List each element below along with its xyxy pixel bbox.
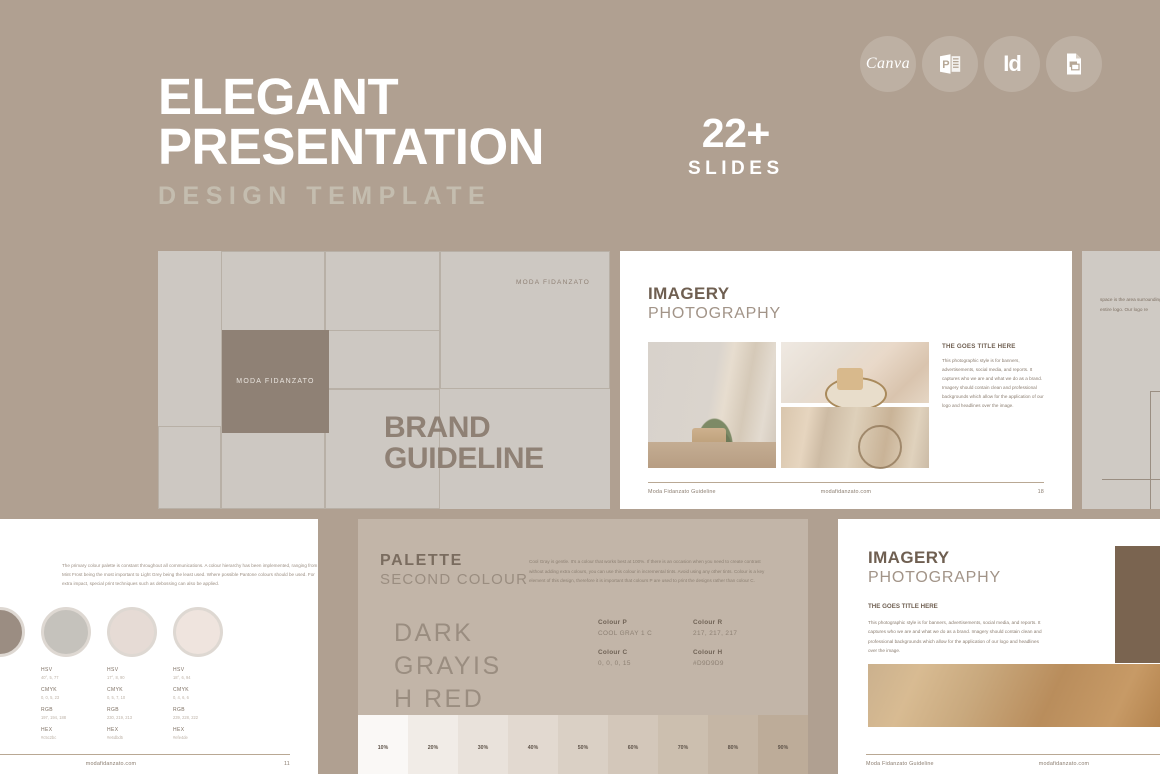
colour-spec-key: HSV [41, 667, 102, 673]
palette-spec-item: Colour C 0, 0, 0, 15 [598, 649, 693, 667]
format-badges: Canva P Id [860, 36, 1102, 92]
imagery-photo-top [781, 342, 929, 403]
colours-description: The primary colour palette is constant t… [62, 561, 318, 589]
imagery-footer-page: 18 [1038, 489, 1044, 495]
svg-text:P: P [942, 59, 949, 71]
slides-count-group: 22+ SLIDES [688, 113, 784, 180]
palette-subheading: SECOND COLOUR [380, 571, 528, 588]
cover-brand-block: MODA FIDANZATO [222, 330, 329, 433]
imagery2-text-body: This photographic style is for banners, … [868, 618, 1046, 656]
palette-heading: PALETTE [380, 552, 528, 570]
colour-spec-key: HEX [107, 727, 168, 733]
imagery-text-body: This photographic style is for banners, … [942, 357, 1046, 411]
cover-grid-box [221, 426, 325, 509]
colour-swatch-dot [173, 607, 223, 657]
hero-heading-group: ELEGANT PRESENTATION DESIGN TEMPLATE [158, 72, 718, 211]
slides-count-number: 22+ [688, 113, 784, 154]
slide-imagery-photography-2[interactable]: IMAGERY PHOTOGRAPHY THE GOES TITLE HERE … [838, 519, 1160, 774]
palette-tint-step[interactable]: 70% [658, 715, 708, 774]
imagery-footer-left: Moda Fidanzato Guideline [648, 489, 716, 495]
colour-spec-key: HSV [0, 667, 36, 673]
cover-title-line1: BRAND [384, 413, 544, 444]
imagery2-text-block: THE GOES TITLE HERE This photographic st… [868, 603, 1046, 656]
palette-spec-value: 0, 0, 0, 15 [598, 660, 693, 667]
imagery-subheading: PHOTOGRAPHY [648, 305, 781, 323]
cover-top-right-brand: MODA FIDANZATO [516, 279, 590, 286]
colours-footer-center: modafidanzato.com [86, 761, 136, 767]
imagery2-subheading: PHOTOGRAPHY [868, 569, 1001, 587]
slide-clear-space[interactable]: space is the area surrounding our l arou… [1082, 251, 1160, 509]
palette-spec-key: Colour P [598, 619, 693, 626]
colour-spec-key: RGB [173, 707, 234, 713]
slide-colours[interactable]: URS The primary colour palette is consta… [0, 519, 318, 774]
palette-spec-value: #D9D9D9 [693, 660, 788, 667]
palette-spec-item: Colour H #D9D9D9 [693, 649, 788, 667]
powerpoint-icon[interactable]: P [922, 36, 978, 92]
colour-spec-key: RGB [41, 707, 102, 713]
palette-tint-step[interactable]: 80% [708, 715, 758, 774]
clearspace-frame [1150, 391, 1160, 509]
palette-tint-step[interactable]: 30% [458, 715, 508, 774]
cover-grid-box [325, 330, 440, 389]
colour-spec-value: 0, 5, 7, 10 [107, 695, 168, 700]
palette-spec-key: Colour R [693, 619, 788, 626]
colour-swatch-dot [41, 607, 91, 657]
canva-icon-label: Canva [866, 55, 910, 73]
colour-spec-key: HEX [173, 727, 234, 733]
slides-count-label: SLIDES [688, 158, 784, 180]
colour-swatch-dot [107, 607, 157, 657]
palette-colour-name: DARK GRAYIS H RED [394, 617, 524, 716]
cover-grid-box [440, 251, 610, 389]
colour-swatch[interactable]: HSV40°, 5, 77CMYK0, 0, 5, 23RGB197, 194,… [36, 607, 102, 740]
cover-title: BRAND GUIDELINE [384, 413, 544, 475]
cover-grid-box [158, 426, 221, 509]
colour-swatch[interactable]: HSV17°, 8, 90CMYK0, 5, 7, 10RGB230, 219,… [102, 607, 168, 740]
palette-tint-step[interactable]: 90% [758, 715, 808, 774]
imagery-text-title: THE GOES TITLE HERE [942, 343, 1046, 350]
palette-tint-step[interactable]: 10% [358, 715, 408, 774]
colour-spec-value: 0, 9, 16, 39 [0, 695, 36, 700]
imagery-footer-center: modafidanzato.com [821, 489, 871, 495]
imagery2-text-title: THE GOES TITLE HERE [868, 603, 1046, 610]
colour-spec-value: #efe4de [173, 735, 234, 740]
cover-title-line2: GUIDELINE [384, 444, 544, 475]
imagery-photo-bottom [781, 407, 929, 468]
colour-spec-key: CMYK [173, 687, 234, 693]
colour-spec-value: 25°, 15, 61 [0, 675, 36, 680]
imagery-text-block: THE GOES TITLE HERE This photographic st… [942, 343, 1046, 411]
colour-spec-key: HEX [41, 727, 102, 733]
imagery-heading: IMAGERY [648, 284, 781, 304]
imagery2-footer-left: Moda Fidanzato Guideline [866, 761, 934, 767]
imagery2-footer-center: modafidanzato.com [1039, 761, 1089, 767]
colour-spec-key: CMYK [107, 687, 168, 693]
colour-spec-key: RGB [107, 707, 168, 713]
colour-spec-value: 239, 228, 222 [173, 715, 234, 720]
colour-spec-key: CMYK [0, 687, 36, 693]
palette-spec-key: Colour H [693, 649, 788, 656]
colour-spec-value: 230, 219, 213 [107, 715, 168, 720]
palette-tint-step[interactable]: 60% [608, 715, 658, 774]
palette-heading-group: PALETTE SECOND COLOUR [380, 552, 528, 588]
palette-tint-scale: 10%20%30%40%50%60%70%80%90% [358, 715, 808, 774]
palette-spec-item: Colour R 217, 217, 217 [693, 619, 788, 637]
colour-swatch[interactable]: HSV18°, 6, 94CMYK0, 4, 6, 6RGB239, 228, … [168, 607, 234, 740]
colour-spec-value: 40°, 5, 77 [41, 675, 102, 680]
indesign-icon-label: Id [1003, 51, 1021, 77]
colour-spec-value: 0, 0, 5, 23 [41, 695, 102, 700]
colours-swatch-row: HSV27°, 27, 50CMYK0, 14, 26, 50RGB127, 1… [0, 607, 318, 740]
google-slides-icon[interactable] [1046, 36, 1102, 92]
clearspace-measure-line [1102, 479, 1160, 480]
imagery2-photo-wheat [868, 664, 1160, 727]
colour-swatch[interactable]: HSV25°, 15, 61CMYK0, 9, 16, 39RGB155, 14… [0, 607, 36, 740]
colour-spec-key: RGB [0, 707, 36, 713]
imagery-heading-group: IMAGERY PHOTOGRAPHY [648, 284, 781, 323]
colour-spec-value: #e6dbd5 [107, 735, 168, 740]
colour-swatch-specs: HSV18°, 6, 94CMYK0, 4, 6, 6RGB239, 228, … [173, 667, 234, 740]
clearspace-body: space is the area surrounding our l arou… [1100, 295, 1160, 315]
palette-spec-item: Colour P COOL GRAY 1 C [598, 619, 693, 637]
colour-spec-value: 0, 4, 6, 6 [173, 695, 234, 700]
slide-palette-second-colour[interactable]: PALETTE SECOND COLOUR Cool Gray is gentl… [358, 519, 808, 774]
hero-title-line1: ELEGANT [158, 72, 718, 122]
imagery2-heading-group: IMAGERY PHOTOGRAPHY [868, 548, 1001, 587]
imagery-photo-main [648, 342, 776, 468]
hero-subtitle: DESIGN TEMPLATE [158, 182, 718, 211]
slide-brand-guideline-cover[interactable]: MODA FIDANZATO MODA FIDANZATO BRAND GUID… [158, 251, 610, 509]
colours-footer: modafidanzato.com 11 [0, 754, 290, 767]
colour-spec-value: 197, 194, 188 [41, 715, 102, 720]
palette-description: Cool Gray is gentle. It's a colour that … [529, 557, 769, 586]
imagery2-footer: Moda Fidanzato Guideline modafidanzato.c… [866, 754, 1160, 767]
indesign-icon[interactable]: Id [984, 36, 1040, 92]
palette-spec-grid: Colour P COOL GRAY 1 C Colour R 217, 217… [598, 619, 788, 667]
colour-spec-value: #c5c2bc [41, 735, 102, 740]
palette-spec-value: 217, 217, 217 [693, 630, 788, 637]
palette-tint-step[interactable]: 40% [508, 715, 558, 774]
colours-footer-page: 11 [284, 761, 290, 767]
colour-spec-value: 18°, 6, 94 [173, 675, 234, 680]
imagery-photo-detail [692, 428, 726, 454]
colour-swatch-specs: HSV40°, 5, 77CMYK0, 0, 5, 23RGB197, 194,… [41, 667, 102, 740]
slide-imagery-photography[interactable]: IMAGERY PHOTOGRAPHY THE GOES TITLE HERE … [620, 251, 1072, 509]
palette-tint-step[interactable]: 20% [408, 715, 458, 774]
imagery2-heading: IMAGERY [868, 548, 1001, 568]
colour-spec-key: CMYK [41, 687, 102, 693]
imagery2-brown-block [1115, 546, 1160, 663]
hero-title-line2: PRESENTATION [158, 122, 718, 172]
cover-brand-mark: MODA FIDANZATO [236, 378, 314, 385]
colour-spec-key: HSV [107, 667, 168, 673]
imagery-footer: Moda Fidanzato Guideline modafidanzato.c… [648, 482, 1044, 495]
palette-tint-step[interactable]: 50% [558, 715, 608, 774]
colour-spec-value: 17°, 8, 90 [107, 675, 168, 680]
colour-spec-value: 155, 141, 130 [0, 715, 36, 720]
colour-swatch-dot [0, 607, 25, 657]
colour-spec-key: HSV [173, 667, 234, 673]
colour-spec-key: HEX [0, 727, 36, 733]
palette-spec-key: Colour C [598, 649, 693, 656]
colour-swatch-specs: HSV25°, 15, 61CMYK0, 9, 16, 39RGB155, 14… [0, 667, 36, 740]
palette-spec-value: COOL GRAY 1 C [598, 630, 693, 637]
canva-icon[interactable]: Canva [860, 36, 916, 92]
colour-swatch-specs: HSV17°, 8, 90CMYK0, 5, 7, 10RGB230, 219,… [107, 667, 168, 740]
colour-spec-value: #9b8d82 [0, 735, 36, 740]
